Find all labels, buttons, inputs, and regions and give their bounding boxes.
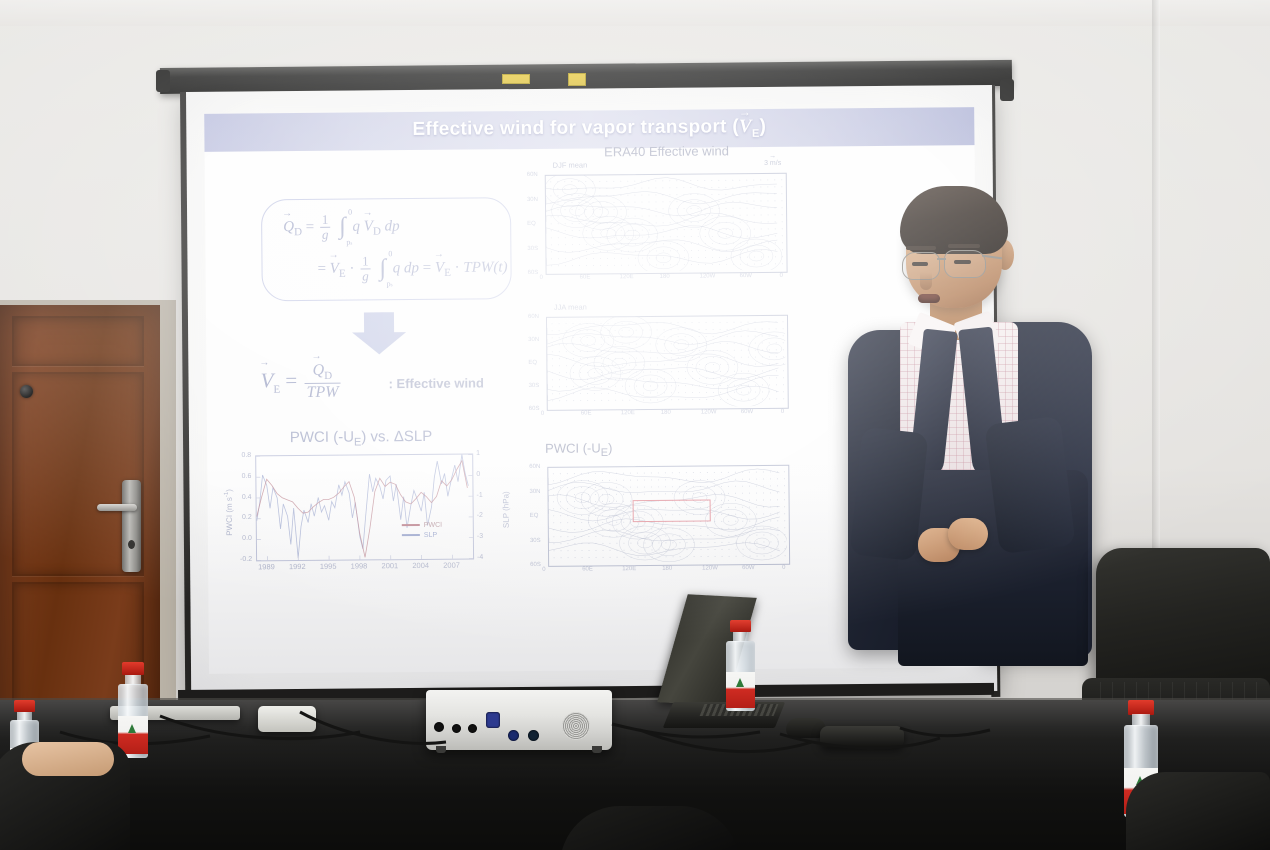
presentation-photo-scene: Effective wind for vapor transport (VE) … [0,0,1270,850]
light-falloff [0,0,1270,850]
